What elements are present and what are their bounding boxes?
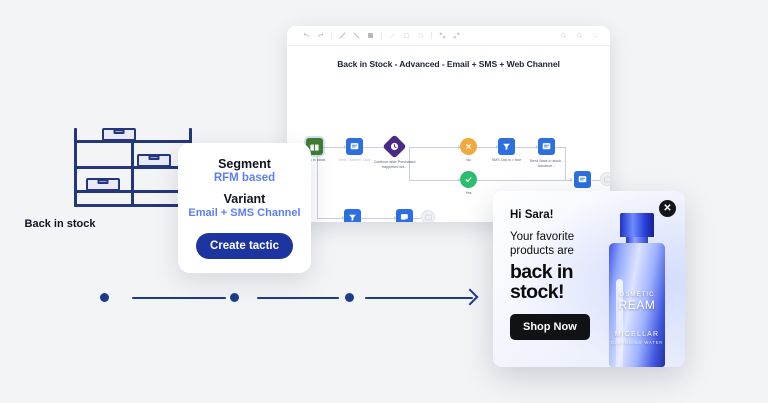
flow-edge [361, 218, 395, 219]
variant-label: Variant [224, 192, 266, 206]
zoom-in-icon[interactable] [560, 32, 567, 39]
clock-icon [382, 134, 406, 158]
flow-node-sms-optin[interactable]: SMS Opt-in = true [498, 138, 515, 155]
promo-subhead: Your favorite products are [510, 230, 612, 258]
arrow-right-icon [462, 289, 479, 306]
shop-now-button[interactable]: Shop Now [510, 314, 590, 340]
toolbar-group-edit [381, 32, 431, 39]
shelf-illustration [74, 128, 192, 218]
flow-node-web-channel-remove[interactable]: Web Channel - remove [574, 171, 591, 188]
segment-card: Segment RFM based Variant Email + SMS Ch… [178, 143, 311, 273]
timeline-segment [132, 297, 226, 299]
send-icon [396, 209, 413, 222]
flow-edge [592, 180, 600, 181]
pen-icon[interactable] [339, 32, 346, 39]
product-type-sub: CLEANSING WATER [609, 340, 665, 345]
timeline-segment [365, 297, 473, 299]
flow-node-continue-after[interactable]: Continue after Purchased happened wit... [386, 138, 403, 155]
create-tactic-button[interactable]: Create tactic [196, 233, 293, 259]
flow-node-branch-yes[interactable]: Yes [460, 171, 477, 188]
flow-edge [409, 147, 459, 148]
promo-greeting: Hi Sara! [510, 209, 612, 221]
timeline-dot [230, 293, 239, 302]
flow-node-web-channel-add[interactable]: Web Channel - add [346, 138, 363, 155]
promo-popup: ✕ OSMETIC REAM MICELLAR CLEANSING WATER … [493, 191, 685, 367]
toolbar-group-history [296, 32, 331, 39]
message-icon [421, 210, 435, 222]
check-icon [460, 171, 477, 188]
product-brand-small: OSMETIC [609, 291, 665, 298]
timeline-segment [257, 297, 339, 299]
flow-edge [555, 147, 566, 148]
shelf-box [137, 154, 171, 167]
distribute-icon[interactable] [453, 32, 460, 39]
flow-edge [477, 180, 571, 181]
flow-edge-arrow-icon [570, 178, 573, 182]
undo-icon[interactable] [303, 32, 310, 39]
promo-copy: Hi Sara! Your favorite products are back… [510, 209, 612, 340]
shelf-caption: Back in stock [25, 218, 96, 230]
flow-node-branch-no[interactable]: No [460, 138, 477, 155]
flow-node-send-back-in-stock[interactable]: Send Back in stock - Advance... [538, 138, 555, 155]
line-icon[interactable] [353, 32, 360, 39]
zoom-out-icon[interactable] [576, 32, 583, 39]
product-brand-large: REAM [609, 298, 665, 312]
bottle-cap [620, 213, 654, 237]
x-icon [460, 138, 477, 155]
flow-node-label: Send Back in stock - Advance... [524, 159, 570, 169]
redo-icon[interactable] [317, 32, 324, 39]
flow-edge [317, 156, 318, 218]
message-icon [600, 172, 610, 186]
shelf-box [86, 178, 120, 191]
variant-value: Email + SMS Channel [188, 207, 300, 219]
flow-node-flow-end[interactable] [421, 210, 435, 222]
close-icon[interactable]: ✕ [659, 200, 676, 217]
box-lid-icon [149, 155, 160, 160]
zoom-reset-icon[interactable] [592, 32, 599, 39]
timeline-arrow [100, 289, 478, 307]
align-icon[interactable] [439, 32, 446, 39]
promo-headline-line2: stock! [510, 282, 612, 302]
flow-edge [323, 147, 345, 148]
bottle-illustration: OSMETIC REAM MICELLAR CLEANSING WATER [609, 213, 665, 367]
promo-headline-line1: back in [510, 262, 612, 282]
flow-node-web-channel-end[interactable] [600, 172, 610, 186]
flow-node-label: Continue after Purchased happened wit... [372, 160, 418, 170]
workflow-title: Back in Stock - Advanced - Email + SMS +… [287, 59, 610, 69]
flow-edge [477, 147, 497, 148]
message-icon [346, 138, 363, 155]
flow-edge [409, 180, 459, 181]
toolbar-group-zoom [560, 32, 601, 39]
toolbar-group-layout [431, 32, 467, 39]
toolbar-group-draw [331, 32, 381, 39]
workflow-toolbar [287, 26, 610, 46]
flow-edge [363, 147, 385, 148]
square-icon[interactable] [403, 32, 410, 39]
segment-value: RFM based [214, 172, 275, 184]
flow-node-optin-status[interactable]: Opt-in Status = true [344, 209, 361, 222]
timeline-dot [100, 293, 109, 302]
shelf-box [102, 128, 136, 141]
flow-node-label: Yes [446, 191, 492, 196]
message-icon [538, 138, 555, 155]
box-lid-icon [114, 129, 125, 134]
flow-edge [317, 218, 343, 219]
funnel-icon [498, 138, 515, 155]
flow-node-send-distributed[interactable]: Send Distributed on 2021-07-09 12:13:51.… [396, 209, 413, 222]
flow-edge [515, 147, 537, 148]
circle-icon[interactable] [417, 32, 424, 39]
copy-icon[interactable] [389, 32, 396, 39]
shelf-board [74, 166, 192, 169]
node-icon[interactable] [367, 32, 374, 39]
product-type: MICELLAR [609, 331, 665, 338]
message-icon [574, 171, 591, 188]
page-root: Back in stock [0, 0, 768, 403]
flow-edge [413, 218, 421, 219]
box-lid-icon [98, 179, 109, 184]
timeline-dot [345, 293, 354, 302]
shelf-board [74, 204, 192, 207]
funnel-icon [344, 209, 361, 222]
segment-label: Segment [218, 157, 271, 171]
